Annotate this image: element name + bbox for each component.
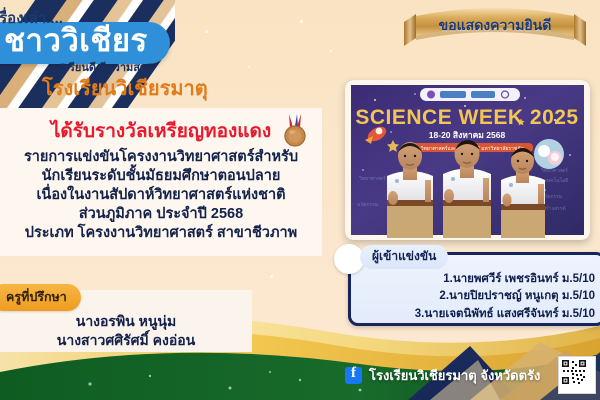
svg-text:วิทยาศาสตร์: วิทยาศาสตร์ (541, 167, 568, 174)
sparkle (205, 30, 208, 33)
advisor-1: นางอรพิน หนูนุ่ม (0, 312, 252, 331)
participants-badge: ผู้เข้าแข่งขัน (360, 245, 448, 269)
participant-3: 3.นายเจตนิพัทธ์ แสงศรีจันทร์ ม.5/10 (351, 306, 595, 323)
advisor-2: นางสาวศศิรัศมิ์ คงอ่อน (0, 331, 252, 350)
participant-1: 1.นายพศวีร์ เพชรอินทร์ ม.5/10 (351, 271, 595, 288)
students-photo: SCIENCE WEEK 2025 18-20 สิงหาคม 2568 คณะ… (345, 80, 590, 240)
advisor-names: นางอรพิน หนูนุ่ม นางสาวศศิรัศมิ์ คงอ่อน (0, 312, 252, 350)
qr-code-graphic (561, 359, 587, 385)
sparkle (330, 50, 332, 52)
facebook-page-name: โรงเรียนวิเชียรมาตุ จังหวัดตรัง (369, 365, 540, 386)
qr-code-icon[interactable] (558, 356, 596, 394)
svg-text:วิทยาศาสตร์: วิทยาศาสตร์ (359, 175, 386, 182)
congratulations-ribbon: ขอแสดงความยินดี (400, 4, 590, 52)
award-line-1: รายการแข่งขันโครงงานวิทยาศาสตร์สำหรับ (24, 148, 298, 167)
svg-text:เทคโนโลยี: เทคโนโลยี (545, 177, 568, 184)
sparkle (248, 66, 250, 68)
award-line-2: นักเรียนระดับชั้นมัธยมศึกษาตอนปลาย (42, 167, 281, 186)
svg-text:18-20 สิงหาคม 2568: 18-20 สิงหาคม 2568 (429, 130, 506, 140)
facebook-row[interactable]: โรงเรียนวิเชียรมาตุ จังหวัดตรัง (345, 365, 540, 386)
award-card: ได้รับรางวัลเหรียญทองแดง รายการแข่งขันโค… (0, 108, 322, 256)
poster-canvas: เรื่องเล่า.... ชาววิเชียร "เรียนดี มีควา… (0, 0, 600, 400)
advisor-badge: ครูที่ปรึกษา (0, 284, 81, 311)
school-name: โรงเรียนวิเชียรมาตุ (42, 72, 208, 104)
sparkle (270, 275, 273, 278)
award-title: ได้รับรางวัลเหรียญทองแดง (51, 121, 271, 144)
award-line-4: ส่วนภูมิภาค ประจำปี 2568 (79, 205, 243, 224)
svg-text:นวัตกรรม: นวัตกรรม (357, 202, 378, 208)
participant-2: 2.นายปิยปราชญ์ หนูเกตุ ม.5/10 (351, 288, 595, 305)
svg-text:สร้างสรรค์: สร้างสรรค์ (543, 205, 566, 212)
advisor-card: ครูที่ปรึกษา นางอรพิน หนูนุ่ม นางสาวศศิร… (0, 290, 252, 352)
award-line-3: เนื่องในงานสัปดาห์วิทยาศาสตร์แห่งชาติ (36, 186, 285, 205)
bronze-medal-icon (280, 114, 310, 148)
ribbon-text: ขอแสดงความยินดี (400, 15, 590, 37)
header-kicker: เรื่องเล่า.... (0, 6, 63, 30)
facebook-icon[interactable] (345, 367, 362, 384)
svg-text:SCIENCE WEEK 2025: SCIENCE WEEK 2025 (355, 106, 578, 129)
participants-list: 1.นายพศวีร์ เพชรอินทร์ ม.5/10 2.นายปิยปร… (351, 271, 595, 323)
photo-illustration: SCIENCE WEEK 2025 18-20 สิงหาคม 2568 คณะ… (345, 80, 590, 240)
sparkle (300, 20, 303, 23)
award-line-5: ประเภท โครงงานวิทยาศาสตร์ สาขาชีวภาพ (25, 224, 297, 243)
